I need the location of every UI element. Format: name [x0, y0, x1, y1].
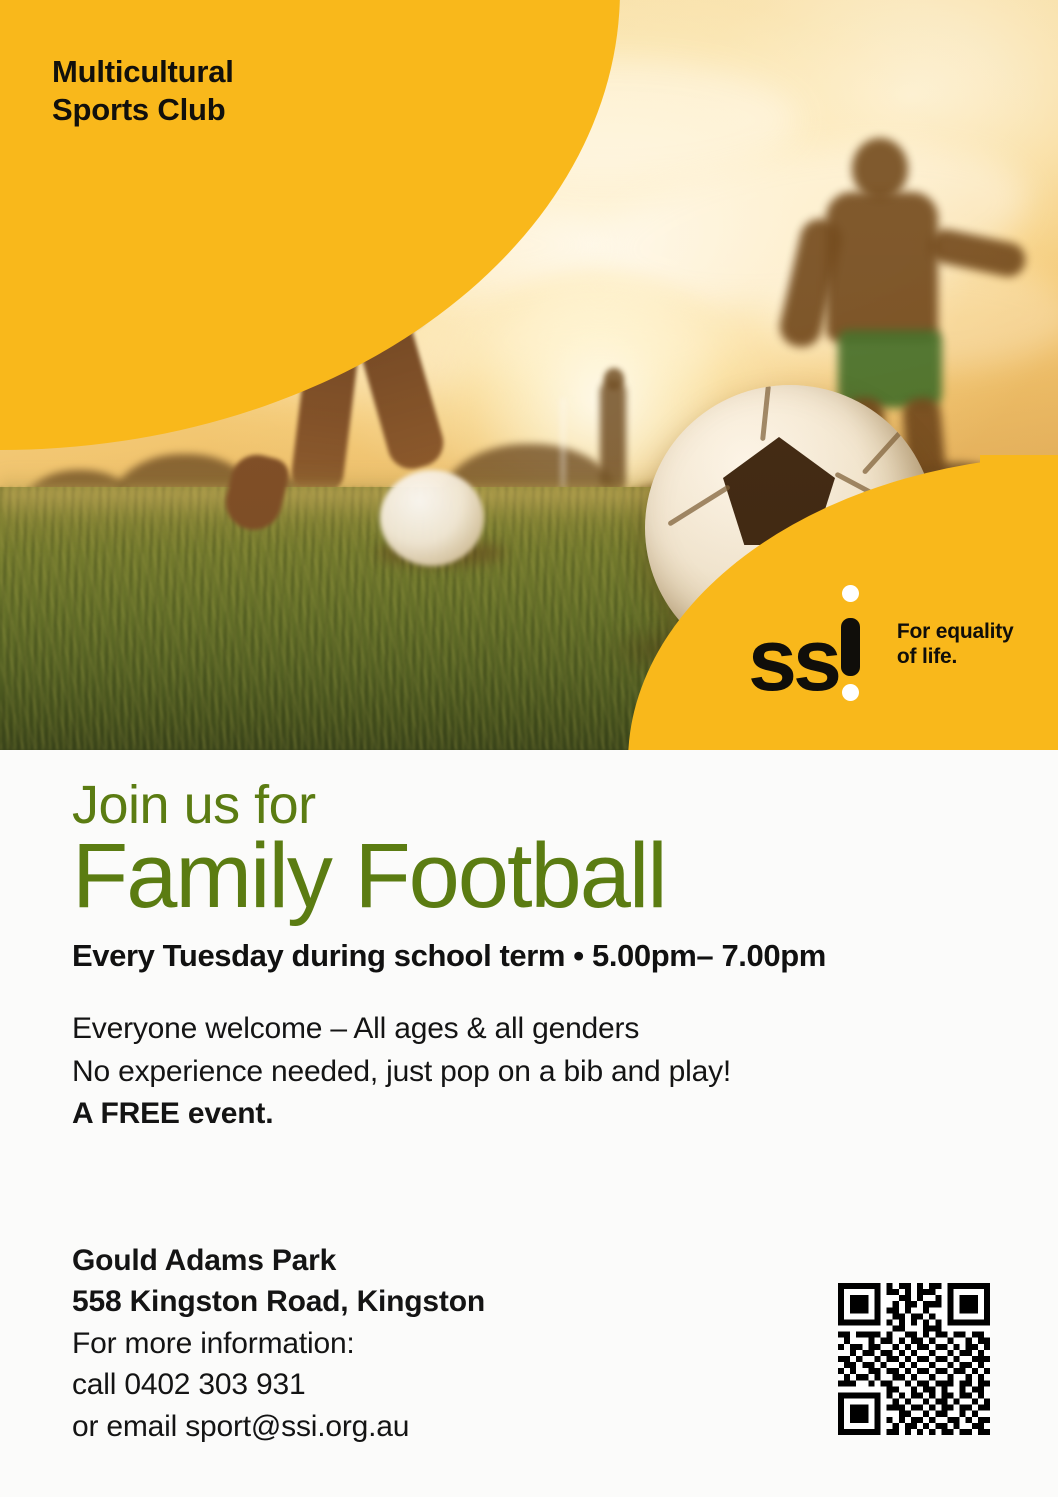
- ssi-i-stem: [841, 618, 860, 676]
- player-silhouette-right-torso: [826, 192, 938, 342]
- yellow-blob-top-left-fill: [0, 0, 120, 300]
- player-silhouette-right-head: [852, 138, 908, 200]
- ssi-letters: ss: [748, 623, 838, 698]
- venue-name: Gould Adams Park: [72, 1240, 485, 1281]
- ssi-letter-i-with-dots: [841, 584, 861, 690]
- description-line-1: Everyone welcome – All ages & all gender…: [72, 1008, 731, 1051]
- event-description: Everyone welcome – All ages & all gender…: [72, 1008, 731, 1136]
- page-title: Family Football: [72, 830, 666, 924]
- venue-and-contact-details: Gould Adams Park 558 Kingston Road, King…: [72, 1240, 485, 1447]
- ssi-tagline-line1: For equality: [897, 620, 1014, 645]
- venue-address: 558 Kingston Road, Kingston: [72, 1281, 485, 1322]
- ssi-dot-bottom-icon: [842, 684, 859, 701]
- description-line-2: No experience needed, just pop on a bib …: [72, 1051, 731, 1094]
- ssi-tagline: For equality of life.: [897, 620, 1014, 670]
- club-name-line1: Multicultural: [52, 53, 332, 91]
- more-info-label: For more information:: [72, 1323, 485, 1364]
- small-soccer-ball: [380, 470, 484, 566]
- ssi-tagline-line2: of life.: [897, 645, 1014, 670]
- join-us-line: Join us for: [72, 778, 316, 832]
- club-name: Multicultural Sports Club: [52, 53, 332, 129]
- club-name-line2: Sports Club: [52, 91, 332, 129]
- qr-code-canvas[interactable]: [838, 1283, 990, 1435]
- contact-phone: call 0402 303 931: [72, 1364, 485, 1405]
- ssi-dot-top-icon: [842, 585, 859, 602]
- ssi-logo: ss For equality of life.: [748, 584, 1014, 698]
- player-silhouette-right-shorts: [838, 330, 942, 408]
- schedule-line: Every Tuesday during school term • 5.00p…: [72, 938, 826, 974]
- contact-email: or email sport@ssi.org.au: [72, 1406, 485, 1447]
- qr-code[interactable]: [838, 1283, 990, 1435]
- ssi-wordmark: ss: [748, 584, 861, 698]
- poster-root: Multicultural Sports Club ss For equalit…: [0, 0, 1058, 1497]
- description-line-3-free: A FREE event.: [72, 1093, 731, 1136]
